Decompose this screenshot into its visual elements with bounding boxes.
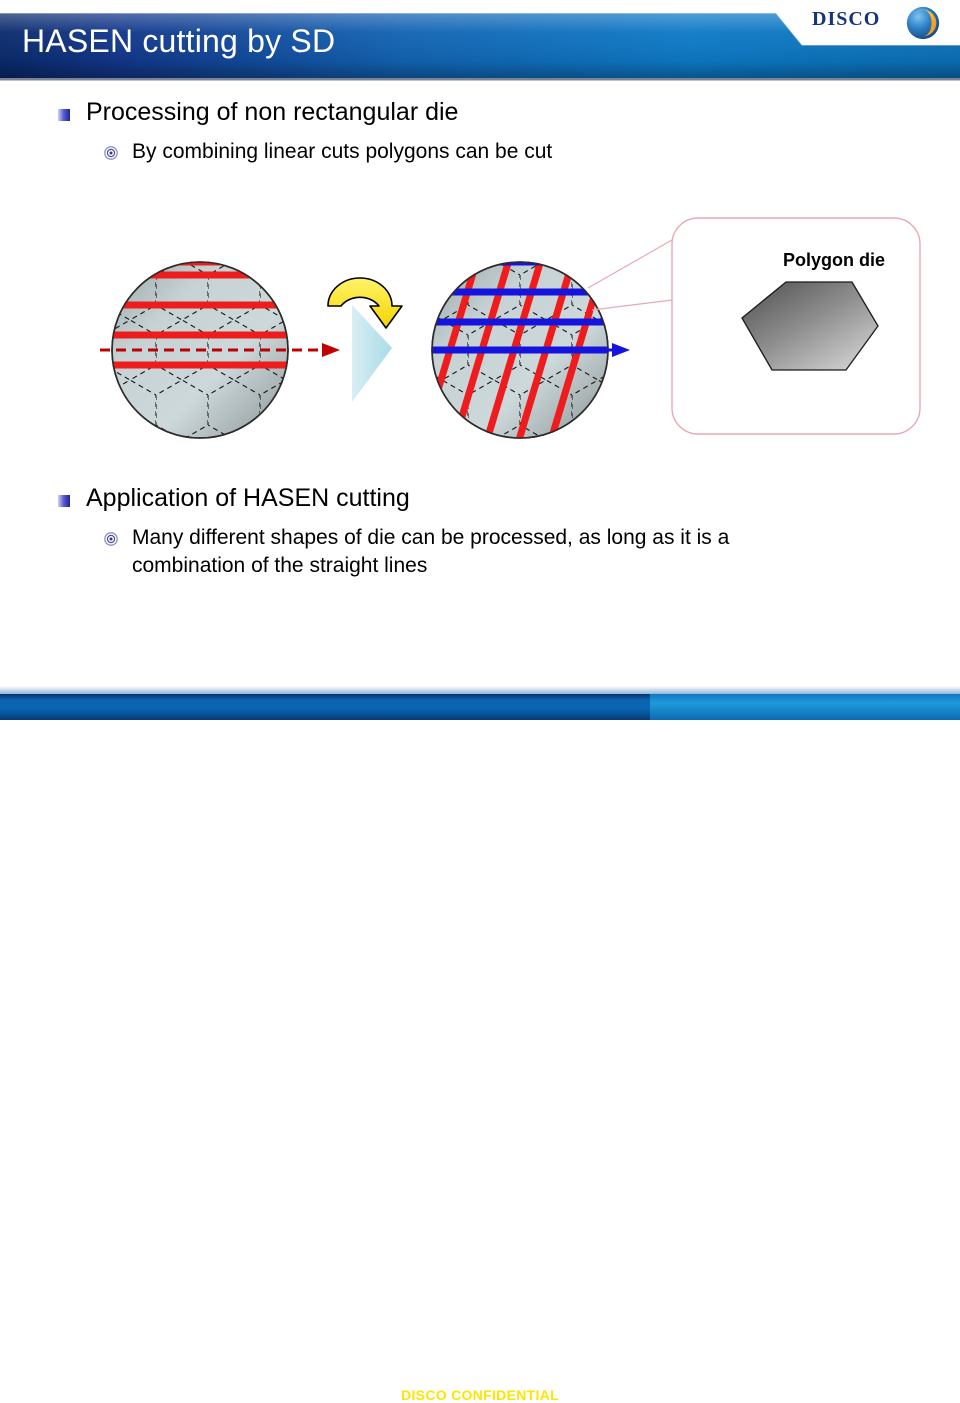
disco-wordmark: DISCO bbox=[812, 8, 880, 31]
slide-footer: DISCO CORPORATION DISCO CONFIDENTIAL ©DI… bbox=[0, 686, 960, 720]
wafer-first-pass bbox=[108, 258, 298, 448]
footer-bar-shape bbox=[0, 686, 960, 720]
bullet-level2-shapes: Many different shapes of die can be proc… bbox=[104, 524, 844, 581]
slide-canvas: HASEN cutting by SD DISCO Processing of bbox=[0, 0, 960, 720]
diagram-svg bbox=[0, 200, 960, 460]
callout-label: Polygon die bbox=[744, 250, 924, 271]
spiral-bullet-icon bbox=[104, 532, 118, 546]
page-title: HASEN cutting by SD bbox=[22, 23, 335, 60]
bullet-level2-combining: By combining linear cuts polygons can be… bbox=[104, 138, 552, 166]
bullet-text: Application of HASEN cutting bbox=[86, 484, 410, 513]
bullet-text: Processing of non rectangular die bbox=[86, 98, 458, 127]
disco-sphere-logo-icon bbox=[904, 4, 942, 42]
square-bullet-icon bbox=[58, 495, 70, 507]
bullet-level1-application: Application of HASEN cutting bbox=[58, 484, 410, 513]
bullet-text: By combining linear cuts polygons can be… bbox=[132, 138, 552, 166]
bullet-level1-processing: Processing of non rectangular die bbox=[58, 98, 458, 127]
square-bullet-icon bbox=[58, 109, 70, 121]
slide-header: HASEN cutting by SD DISCO bbox=[0, 0, 960, 86]
footer-right-text: ©DISCO CORPORATION All rights reserved bbox=[697, 1388, 952, 1402]
bullet-text: Many different shapes of die can be proc… bbox=[132, 524, 838, 581]
spiral-bullet-icon bbox=[104, 146, 118, 160]
wafer-second-pass bbox=[388, 250, 618, 450]
hasen-cutting-diagram: Polygon die bbox=[0, 200, 960, 460]
